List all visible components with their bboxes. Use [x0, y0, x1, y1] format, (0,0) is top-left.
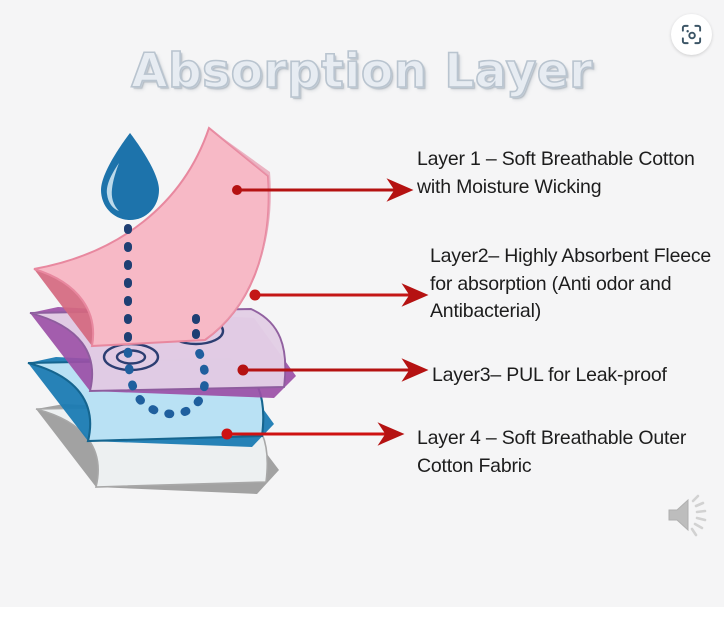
slide-canvas: Absorption Layer	[0, 0, 724, 607]
speaker-volume-icon[interactable]	[663, 492, 713, 538]
bottom-white-bar	[0, 607, 724, 624]
lens-scan-button[interactable]	[671, 14, 712, 55]
callout-label-layer-4: Layer 4 – Soft Breathable Outer Cotton F…	[417, 425, 713, 480]
callout-arrow-layer-2	[250, 290, 425, 301]
callout-label-layer-3: Layer3– PUL for Leak-proof	[432, 362, 720, 390]
screenshot-root: Absorption Layer	[0, 0, 724, 624]
callout-label-layer-2: Layer2– Highly Absorbent Fleece for abso…	[430, 243, 718, 326]
water-droplet-icon	[101, 133, 159, 220]
google-lens-scan-icon	[680, 23, 703, 46]
callout-label-layer-1: Layer 1 – Soft Breathable Cotton with Mo…	[417, 146, 713, 201]
